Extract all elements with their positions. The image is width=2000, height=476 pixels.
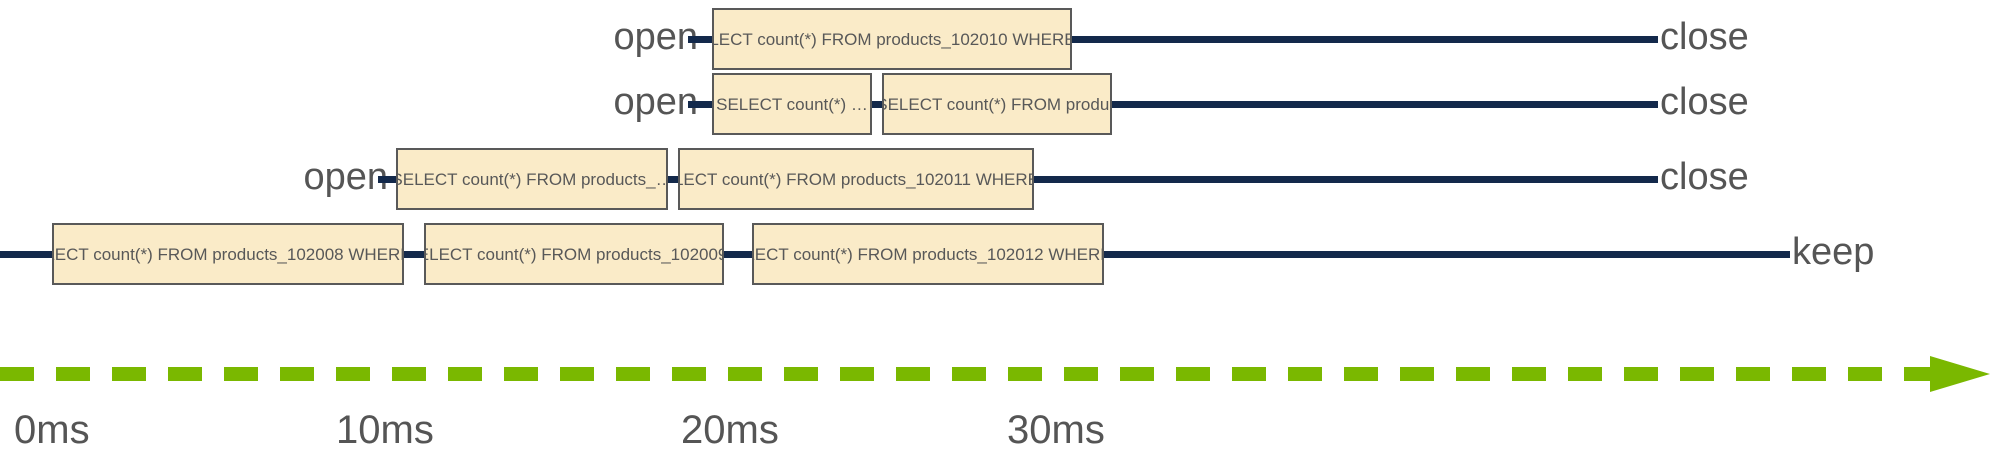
row-1-query-box-1[interactable]: SELECT count(*) FROM products_102010 WHE… [712,8,1072,70]
row-2-query-box-2[interactable]: SELECT count(*) FROM produc [882,73,1112,135]
row-2-query-box-1[interactable]: SELECT count(*) … [712,73,872,135]
timeline-row-3: open SELECT count(*) FROM products_… SEL… [0,140,2000,220]
row-3-open-label: open [288,158,388,196]
timeline-diagram: open SELECT count(*) FROM products_10201… [0,0,2000,476]
row-2-close-label: close [1660,83,1810,121]
row-2-query-text-2: SELECT count(*) FROM produc [882,96,1112,113]
row-4-query-box-3[interactable]: SELECT count(*) FROM products_102012 WHE… [752,223,1104,285]
row-3-close-label: close [1660,158,1810,196]
timeline-row-2: open SELECT count(*) … SELECT count(*) F… [0,65,2000,145]
axis-tick-30ms: 30ms [1007,410,1105,450]
row-1-close-label: close [1660,18,1810,56]
row-4-query-text-1: SELECT count(*) FROM products_102008 WHE… [52,246,404,263]
row-4-keep-label: keep [1792,233,1992,271]
row-4-query-text-2: SELECT count(*) FROM products_102009 .. [424,246,724,263]
timeline-row-4: SELECT count(*) FROM products_102008 WHE… [0,215,2000,295]
time-axis-arrowhead [1930,356,1990,392]
time-axis-labels: 0ms 10ms 20ms 30ms [0,410,2000,470]
axis-tick-20ms: 20ms [681,410,779,450]
row-2-query-text-1: SELECT count(*) … [712,96,872,113]
row-1-query-text-1: SELECT count(*) FROM products_102010 WHE… [712,31,1072,48]
row-4-query-box-1[interactable]: SELECT count(*) FROM products_102008 WHE… [52,223,404,285]
row-3-query-text-2: SELECT count(*) FROM products_102011 WHE… [678,171,1034,188]
row-3-query-text-1: SELECT count(*) FROM products_… [396,171,668,188]
axis-tick-0ms: 0ms [14,410,90,450]
axis-tick-10ms: 10ms [336,410,434,450]
row-3-query-box-2[interactable]: SELECT count(*) FROM products_102011 WHE… [678,148,1034,210]
time-axis-arrow [0,352,2000,396]
row-3-query-box-1[interactable]: SELECT count(*) FROM products_… [396,148,668,210]
row-2-open-label: open [598,83,698,121]
row-1-open-label: open [598,18,698,56]
row-4-query-box-2[interactable]: SELECT count(*) FROM products_102009 .. [424,223,724,285]
row-4-query-text-3: SELECT count(*) FROM products_102012 WHE… [752,246,1104,263]
